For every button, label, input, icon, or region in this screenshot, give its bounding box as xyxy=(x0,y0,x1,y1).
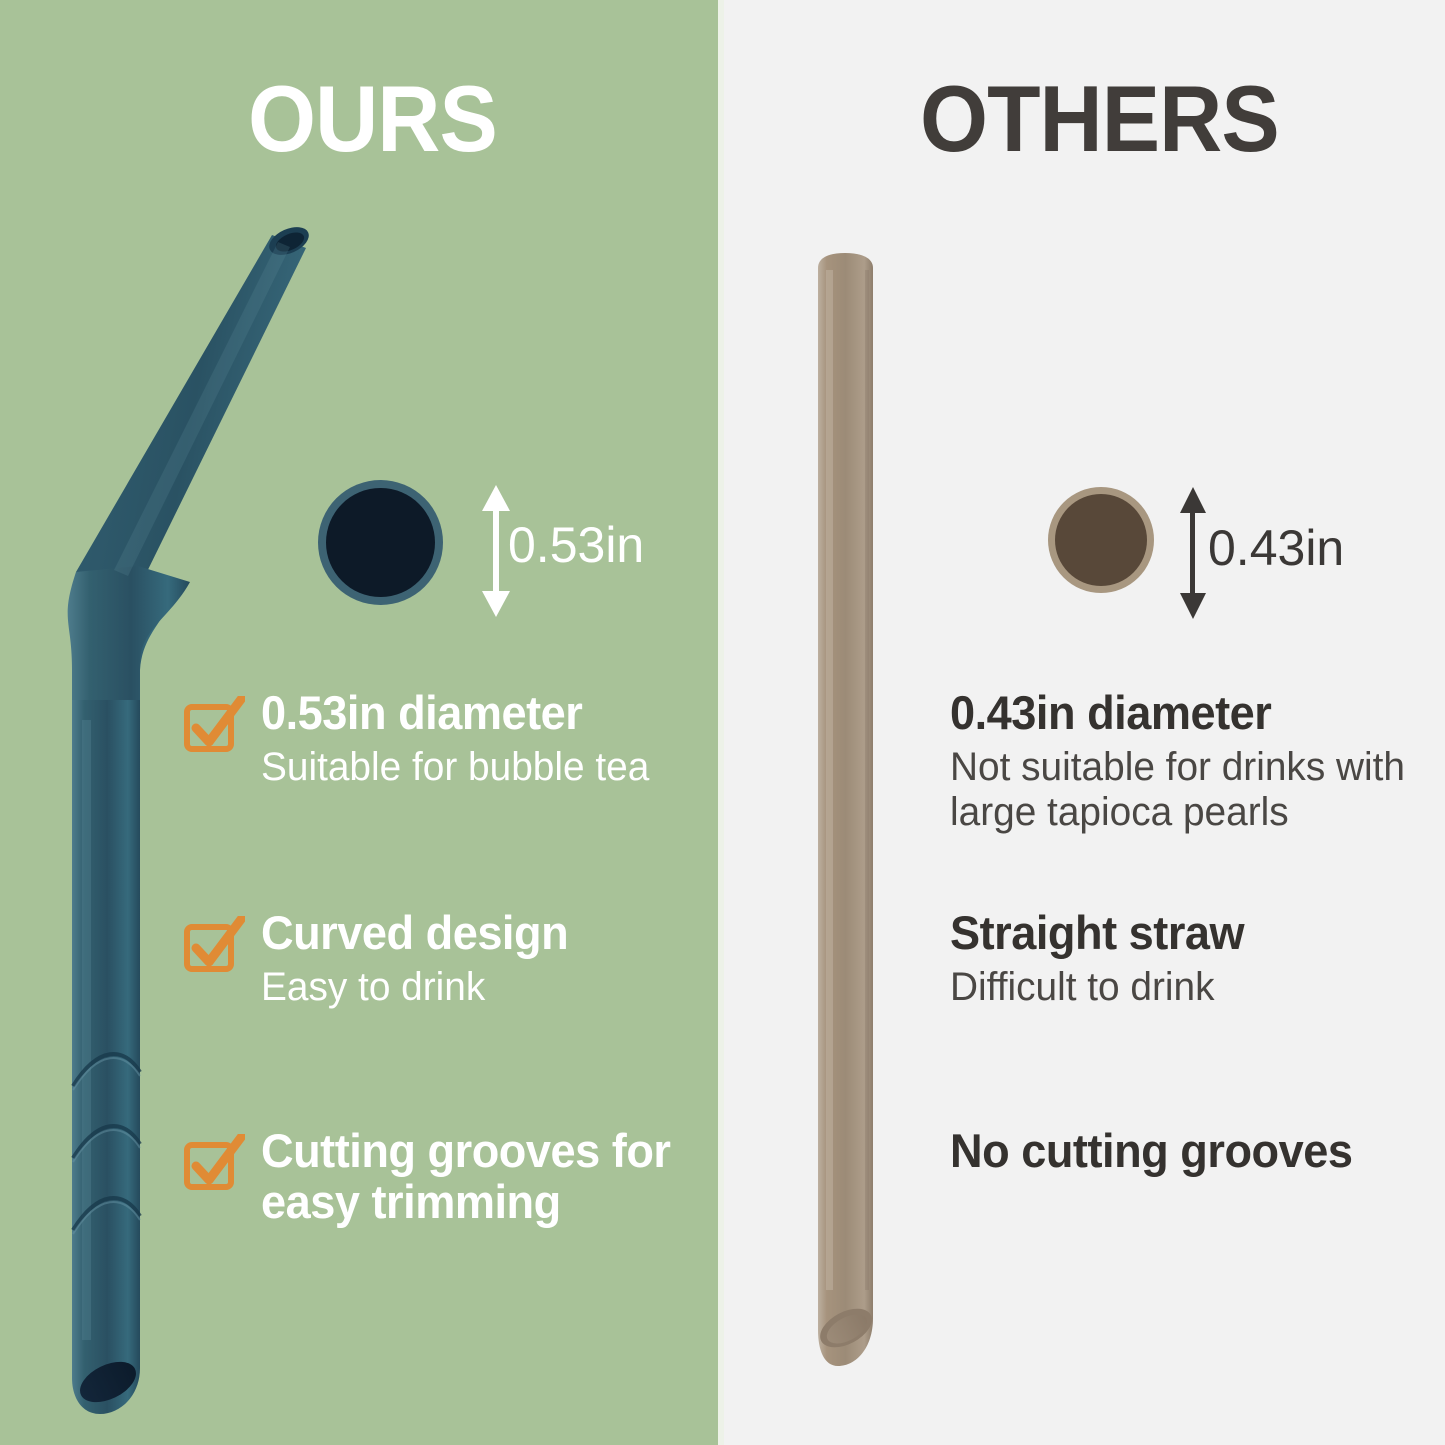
feature-title: Straight straw xyxy=(950,908,1401,959)
feature-title: 0.53in diameter xyxy=(261,688,695,739)
list-item: 0.53in diameter Suitable for bubble tea xyxy=(183,688,713,908)
checked-checkbox-icon xyxy=(183,696,245,754)
others-column-title: OTHERS xyxy=(920,72,1279,166)
list-item: Curved design Easy to drink xyxy=(183,908,713,1126)
checked-checkbox-icon xyxy=(183,1134,245,1192)
ours-feature-list: 0.53in diameter Suitable for bubble tea … xyxy=(183,688,713,1228)
ours-diameter-value: 0.53in xyxy=(508,520,644,570)
straw-cross-section-bore xyxy=(326,488,435,597)
comparison-infographic: OURS OTHERS xyxy=(0,0,1445,1445)
list-item: 0.43in diameter Not suitable for drinks … xyxy=(950,688,1420,908)
feature-title: Curved design xyxy=(261,908,695,959)
ours-column-title: OURS xyxy=(248,72,497,166)
straw-cross-section-bore xyxy=(1055,494,1147,586)
list-item: Straight straw Difficult to drink xyxy=(950,908,1420,1126)
feature-title: No cutting grooves xyxy=(950,1126,1401,1177)
feature-title: Cutting grooves for easy trimming xyxy=(261,1126,695,1228)
others-diameter-value: 0.43in xyxy=(1208,523,1344,573)
others-feature-list: 0.43in diameter Not suitable for drinks … xyxy=(950,688,1420,1177)
feature-subtitle: Not suitable for drinks with large tapio… xyxy=(950,745,1406,835)
feature-subtitle: Easy to drink xyxy=(261,965,699,1010)
feature-subtitle: Difficult to drink xyxy=(950,965,1406,1010)
feature-subtitle: Suitable for bubble tea xyxy=(261,745,699,790)
checked-checkbox-icon xyxy=(183,916,245,974)
feature-title: 0.43in diameter xyxy=(950,688,1401,739)
straight-straw-icon xyxy=(780,250,920,1390)
list-item: No cutting grooves xyxy=(950,1126,1420,1177)
panel-divider xyxy=(718,0,724,1445)
list-item: Cutting grooves for easy trimming xyxy=(183,1126,713,1228)
double-headed-vertical-arrow-icon xyxy=(1176,487,1210,619)
